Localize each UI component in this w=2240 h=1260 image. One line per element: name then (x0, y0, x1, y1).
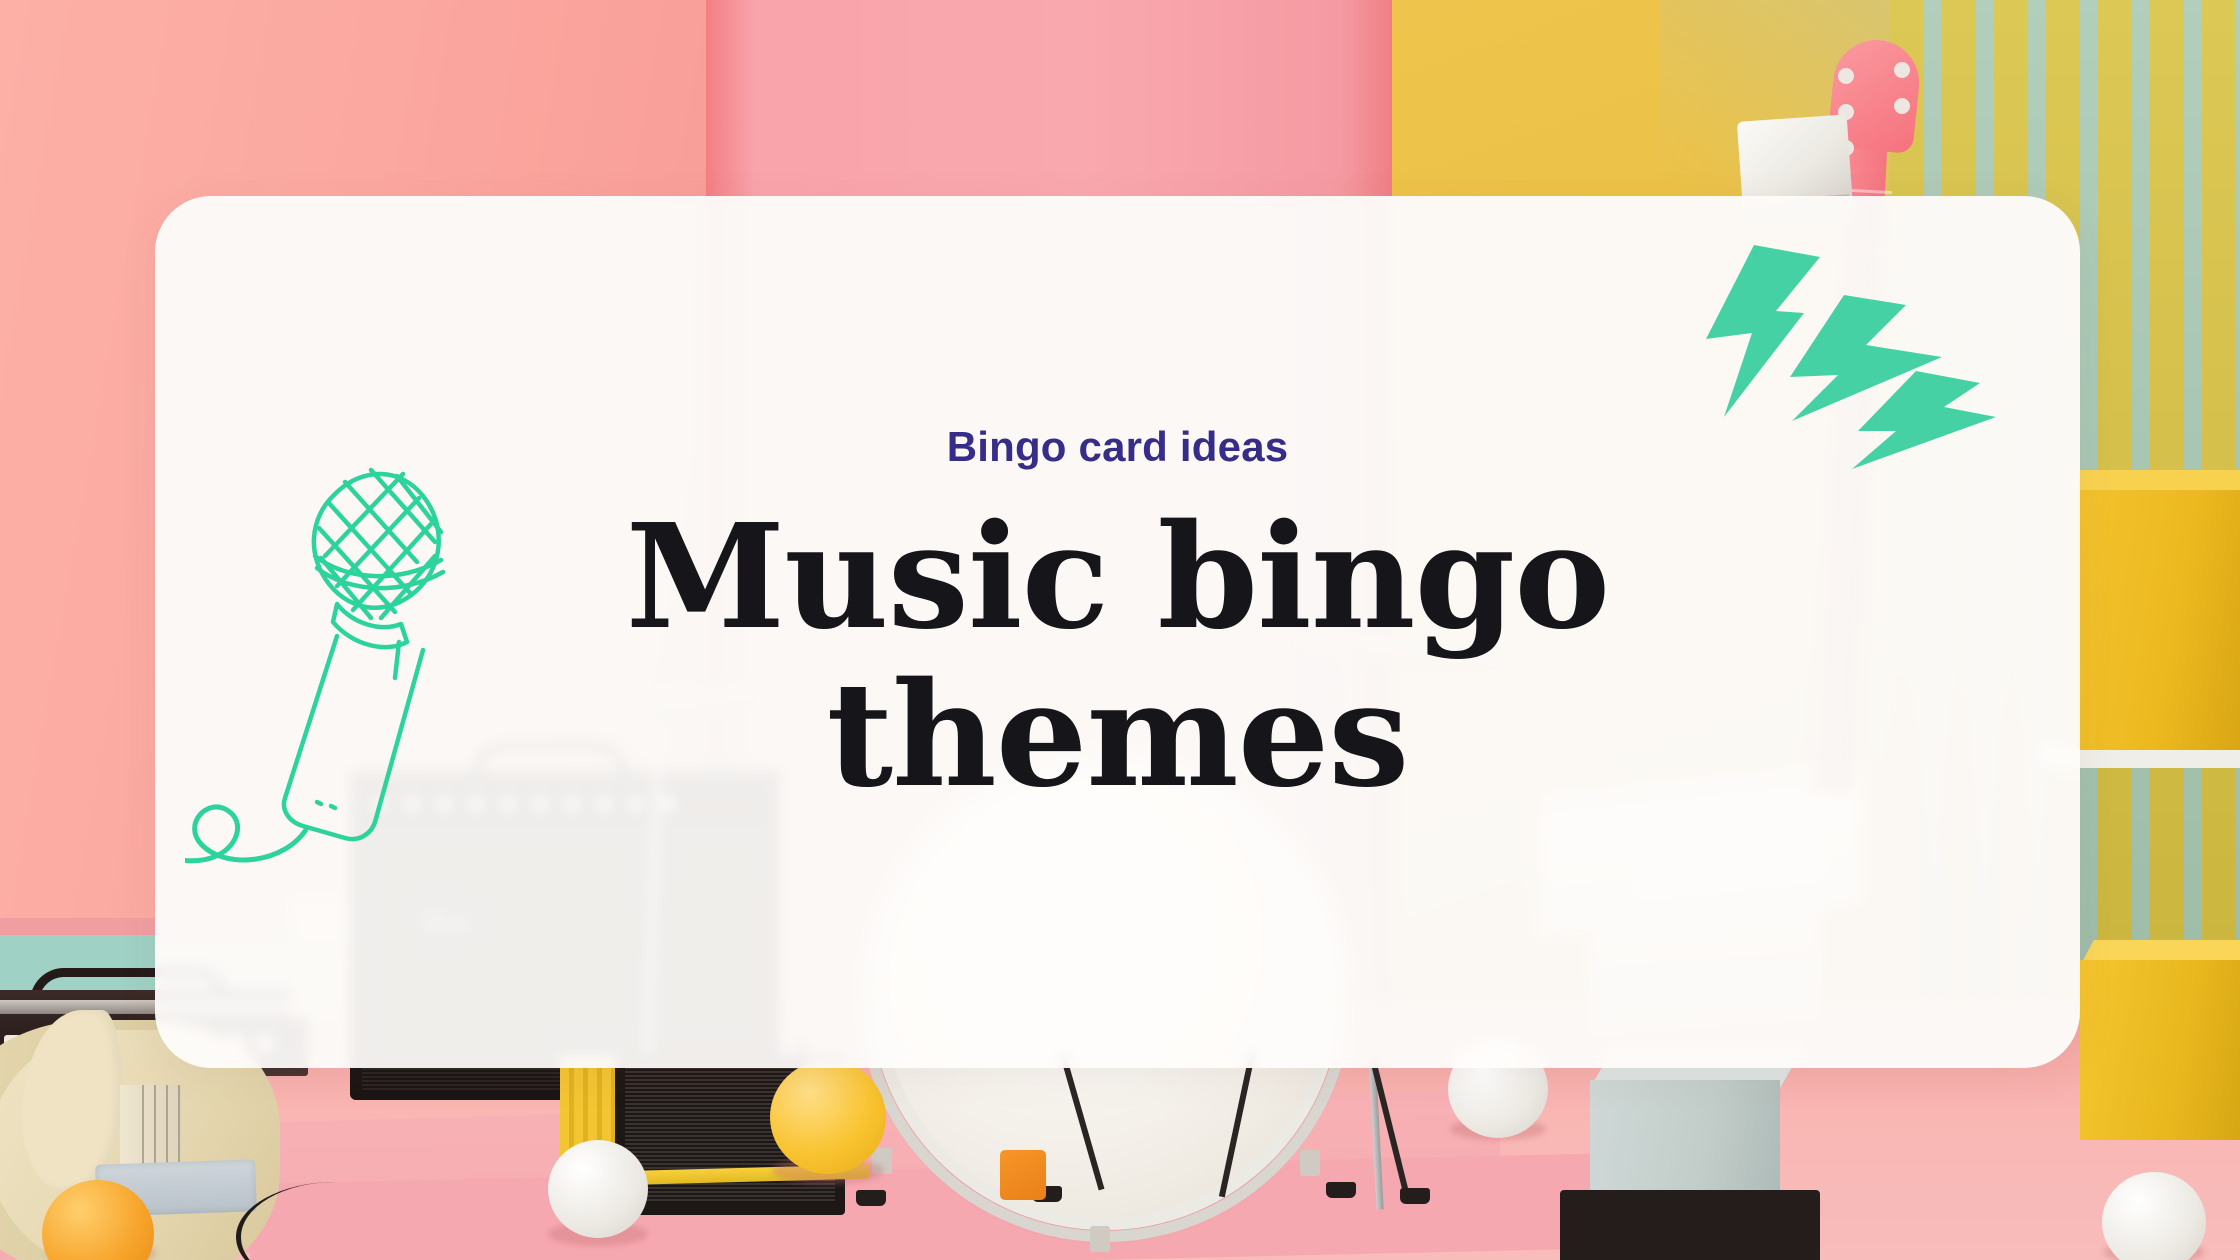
yellow-box-upper (2062, 490, 2240, 750)
eyebrow-label: Bingo card ideas (947, 423, 1289, 471)
white-sphere-left (548, 1140, 648, 1238)
yellow-box-lower (2080, 960, 2240, 1140)
page-title: Music bingo themes (626, 505, 1610, 807)
headline-line-2: themes (626, 663, 1610, 807)
poster-canvas: Vox (0, 0, 2240, 1260)
yellow-sphere-center (770, 1060, 886, 1174)
orange-clip-prop (1000, 1150, 1046, 1200)
card-inner: Bingo card ideas Music bingo themes (155, 196, 2080, 1068)
right-amplifier (1560, 1190, 1820, 1260)
lightning-bolts-icon (1680, 241, 2010, 471)
content-card: Bingo card ideas Music bingo themes (155, 196, 2080, 1068)
headline-line-1: Music bingo (626, 492, 1610, 661)
microphone-icon (185, 446, 505, 866)
